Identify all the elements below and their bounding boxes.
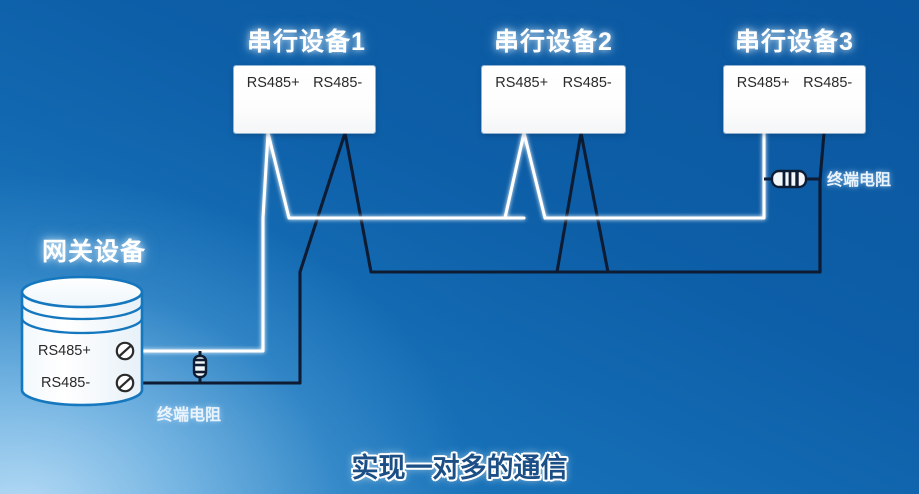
gateway-terminator-resistor: [194, 351, 206, 383]
gateway-title: 网关设备: [42, 232, 146, 268]
gateway-pin-plus-label: RS485+: [38, 343, 91, 359]
device2-title: 串行设备2: [494, 22, 613, 58]
device3-pin-minus-label: RS485-: [803, 75, 852, 91]
device1-pin-plus-label: RS485+: [247, 75, 300, 91]
device1-pin-labels: RS485+ RS485-: [234, 75, 375, 91]
device1-title: 串行设备1: [247, 22, 366, 58]
device1-pin-minus-label: RS485-: [313, 75, 362, 91]
gateway-terminal-minus-icon[interactable]: [117, 375, 133, 391]
diagram-caption: 实现一对多的通信: [0, 446, 919, 485]
wire-bus-positive: [128, 133, 764, 351]
device3-terminator-resistor: [764, 171, 820, 187]
device3-terminator-label: 终端电阻: [827, 166, 891, 190]
device3-box[interactable]: RS485+ RS485-: [724, 66, 865, 133]
wire-bus-negative: [128, 133, 824, 383]
device2-pin-minus-label: RS485-: [563, 75, 612, 91]
device1-box[interactable]: RS485+ RS485-: [234, 66, 375, 133]
gateway-pin-minus-label: RS485-: [41, 375, 90, 391]
device2-pin-labels: RS485+ RS485-: [482, 75, 625, 91]
device2-box[interactable]: RS485+ RS485-: [482, 66, 625, 133]
device3-pin-plus-label: RS485+: [737, 75, 790, 91]
diagram-canvas: 串行设备1 RS485+ RS485- 串行设备2 RS485+ RS485- …: [0, 0, 919, 494]
gateway-terminal-plus-icon[interactable]: [117, 343, 133, 359]
device3-title: 串行设备3: [735, 22, 854, 58]
gateway-terminator-label: 终端电阻: [157, 401, 221, 425]
device2-pin-plus-label: RS485+: [495, 75, 548, 91]
device3-pin-labels: RS485+ RS485-: [724, 75, 865, 91]
